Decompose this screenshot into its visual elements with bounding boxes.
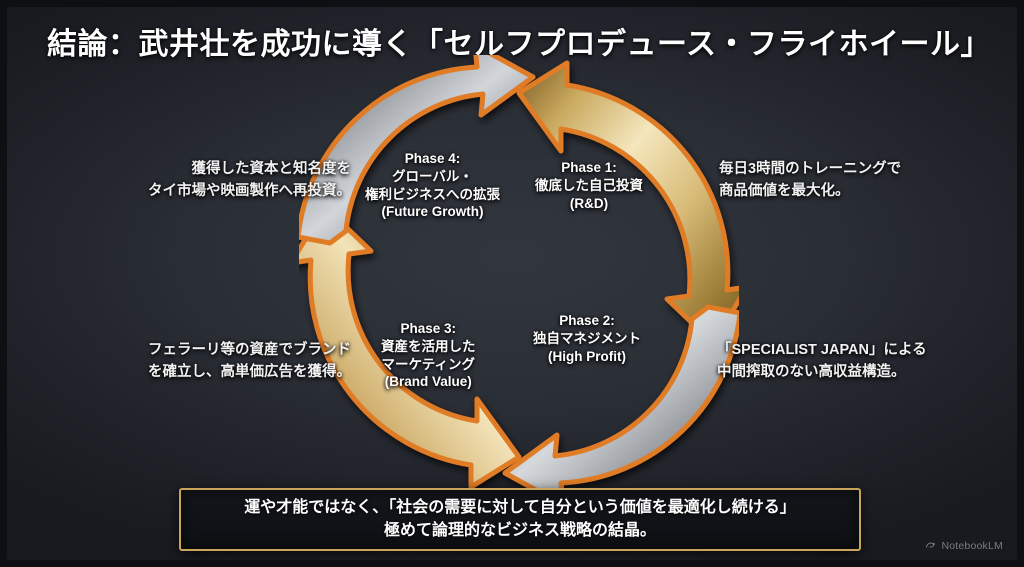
slide-canvas: 結論：武井壮を成功に導く「セルフプロデュース・フライホイール」 xyxy=(0,0,1024,567)
note-phase-4-line1: 獲得した資本と知名度を xyxy=(81,159,351,181)
note-phase-3: フェラーリ等の資産でブランド を確立し、高単価広告を獲得。 xyxy=(71,340,351,384)
phase-1-line2: 徹底した自己投資 xyxy=(535,177,643,195)
phase-3-line4: (Brand Value) xyxy=(381,373,476,391)
phase-2-line3: (High Profit) xyxy=(533,348,641,366)
phase-3-line2: 資産を活用した xyxy=(381,338,476,356)
note-phase-1-line1: 毎日3時間のトレーニングで xyxy=(719,159,1009,181)
phase-3-title: Phase 3: xyxy=(381,320,476,338)
phase-4-title: Phase 4: xyxy=(365,150,500,168)
note-phase-2-line2: 中間搾取のない高収益構造。 xyxy=(717,362,1017,384)
note-phase-2-line1: 「SPECIALIST JAPAN」による xyxy=(717,340,1017,362)
caption-line-2: 極めて論理的なビジネス戦略の結晶。 xyxy=(384,520,656,543)
notebooklm-label: NotebookLM xyxy=(941,540,1003,552)
phase-1-line3: (R&D) xyxy=(535,195,643,213)
phase-4-label: Phase 4: グローバル・ 権利ビジネスへの拡張 (Future Growt… xyxy=(365,150,500,221)
note-phase-4-line2: タイ市場や映画製作へ再投資。 xyxy=(81,181,351,203)
phase-2-title: Phase 2: xyxy=(533,312,641,330)
phase-2-label: Phase 2: 独自マネジメント (High Profit) xyxy=(533,312,641,365)
phase-2-line2: 独自マネジメント xyxy=(533,330,641,348)
note-phase-3-line1: フェラーリ等の資産でブランド xyxy=(71,340,351,362)
note-phase-1: 毎日3時間のトレーニングで 商品価値を最大化。 xyxy=(719,159,1009,203)
phase-1-label: Phase 1: 徹底した自己投資 (R&D) xyxy=(535,159,643,212)
phase-4-line3: 権利ビジネスへの拡張 xyxy=(365,186,500,204)
phase-4-line2: グローバル・ xyxy=(365,168,500,186)
notebooklm-icon xyxy=(925,540,937,552)
phase-1-title: Phase 1: xyxy=(535,159,643,177)
phase-3-label: Phase 3: 資産を活用した マーケティング (Brand Value) xyxy=(381,320,476,391)
note-phase-3-line2: を確立し、高単価広告を獲得。 xyxy=(71,362,351,384)
note-phase-2: 「SPECIALIST JAPAN」による 中間搾取のない高収益構造。 xyxy=(717,340,1017,384)
note-phase-1-line2: 商品価値を最大化。 xyxy=(719,181,1009,203)
summary-caption-box: 運や才能ではなく、「社会の需要に対して自分という価値を最適化し続ける」 極めて論… xyxy=(179,488,861,551)
note-phase-4: 獲得した資本と知名度を タイ市場や映画製作へ再投資。 xyxy=(81,159,351,203)
phase-3-line3: マーケティング xyxy=(381,356,476,374)
phase-4-line4: (Future Growth) xyxy=(365,203,500,221)
flywheel-diagram xyxy=(299,55,739,495)
caption-line-1: 運や才能ではなく、「社会の需要に対して自分という価値を最適化し続ける」 xyxy=(244,497,796,520)
notebooklm-watermark: NotebookLM xyxy=(925,540,1003,552)
